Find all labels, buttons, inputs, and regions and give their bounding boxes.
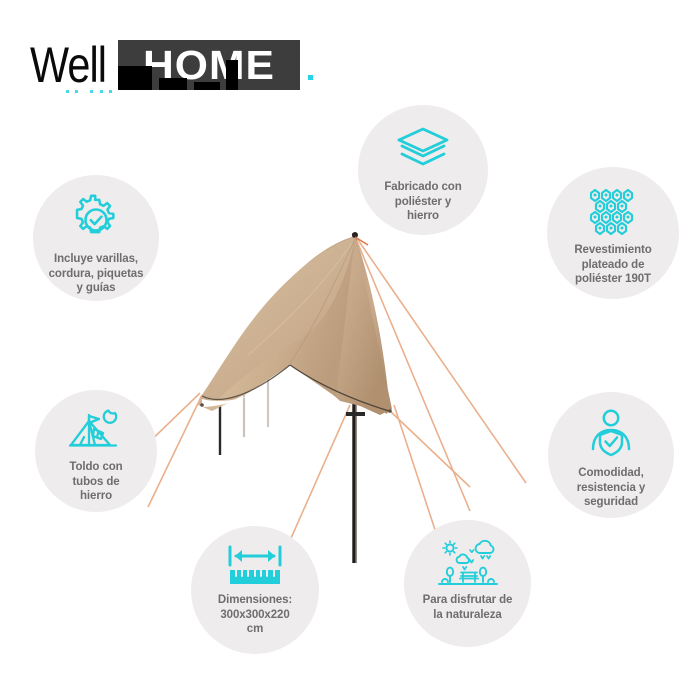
person-shield-check-icon — [584, 409, 638, 466]
badge-label: Comodidad, resistencia y seguridad — [571, 466, 651, 510]
badge-comodidad-seguridad[interactable]: Comodidad, resistencia y seguridad — [548, 392, 674, 518]
badge-fabricado-poliester[interactable]: Fabricado con poliéster y hierro — [358, 105, 488, 235]
badge-disfrutar-naturaleza[interactable]: Para disfrutar de la naturaleza — [404, 520, 531, 647]
logo-accent-dot — [308, 75, 313, 80]
stake-point-left — [200, 403, 204, 407]
badge-label: Dimensiones: 300x300x220 cm — [212, 593, 298, 637]
pole-collar — [346, 412, 365, 416]
product-image-tarp-tent — [140, 215, 570, 565]
badge-label: Revestimiento plateado de poliéster 190T — [568, 243, 657, 287]
brand-logo: Well HOME — [30, 34, 320, 96]
logo-dot-small-3 — [90, 90, 93, 93]
stake-point-right — [388, 409, 392, 413]
layers-stack-icon — [394, 125, 452, 180]
logo-well-text: Well — [30, 36, 106, 94]
gear-check-icon — [69, 193, 123, 252]
honeycomb-mesh-icon — [585, 186, 641, 243]
logo-dot-small-4 — [100, 90, 103, 93]
tent-moon-icon — [68, 407, 124, 460]
badge-dimensiones[interactable]: Dimensiones: 300x300x220 cm — [191, 526, 319, 654]
badge-toldo-tubos-hierro[interactable]: Toldo con tubos de hierro — [35, 390, 157, 512]
logo-dot-small-1 — [66, 90, 69, 93]
park-nature-icon — [437, 540, 499, 593]
logo-accent-block-1 — [118, 66, 152, 90]
logo-accent-block-3 — [194, 82, 220, 90]
badge-label: Toldo con tubos de hierro — [63, 460, 128, 504]
badge-revestimiento-plateado[interactable]: Revestimiento plateado de poliéster 190T — [547, 167, 679, 299]
logo-dot-small-5 — [109, 90, 112, 93]
logo-dot-small-2 — [75, 90, 78, 93]
product-infographic: Well HOME — [0, 0, 700, 700]
logo-home-box: HOME — [118, 40, 300, 90]
ruler-arrow-icon — [226, 544, 284, 593]
logo-accent-block-4 — [226, 60, 238, 90]
badge-label: Para disfrutar de la naturaleza — [417, 593, 519, 622]
badge-label: Fabricado con poliéster y hierro — [378, 180, 467, 224]
badge-incluye-varillas[interactable]: Incluye varillas, cordura, piquetas y gu… — [33, 175, 159, 301]
badge-label: Incluye varillas, cordura, piquetas y gu… — [43, 252, 150, 296]
logo-accent-block-2 — [159, 78, 187, 90]
